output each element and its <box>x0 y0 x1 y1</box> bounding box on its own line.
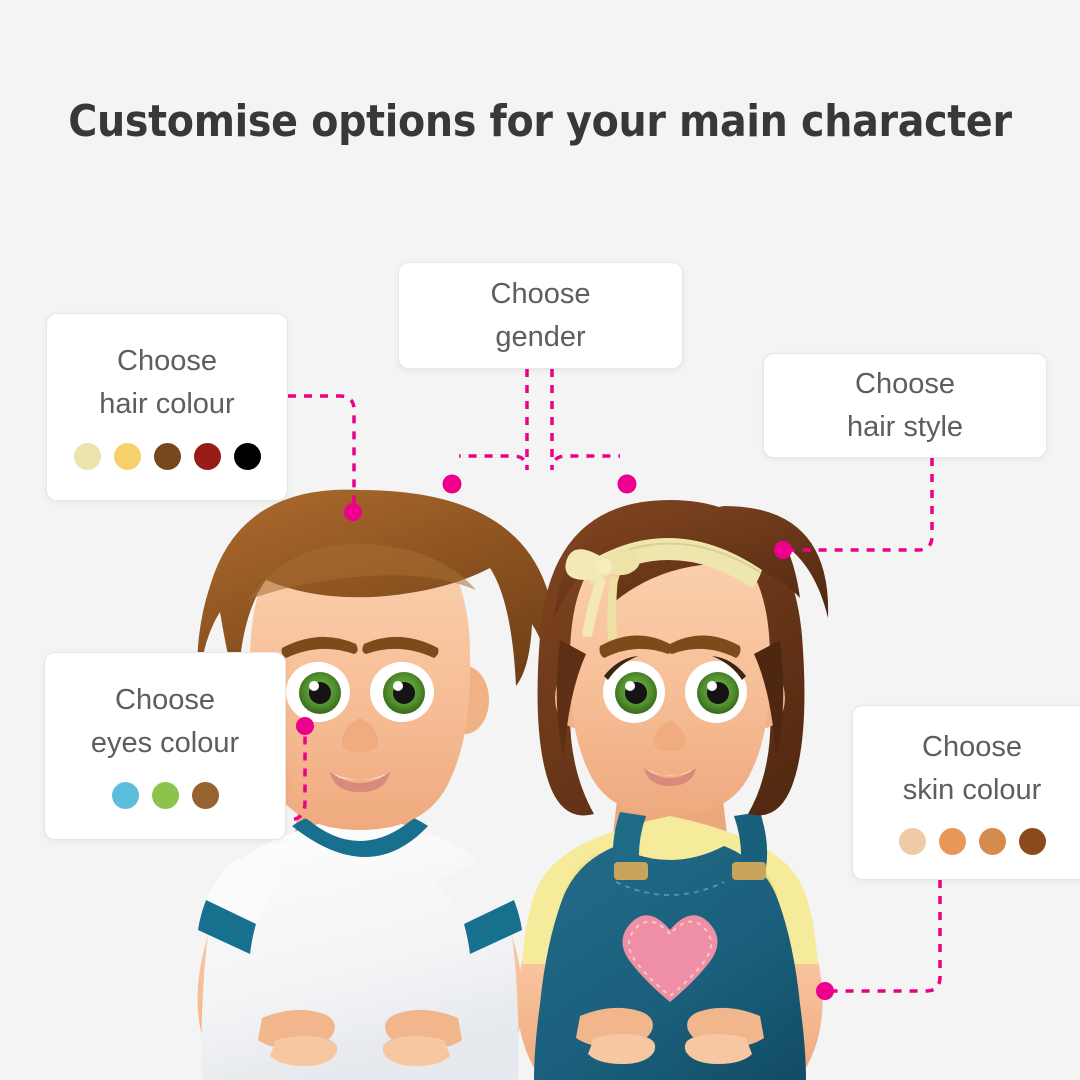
card-skin-colour-label: Choose skin colour <box>903 726 1042 812</box>
swatch-skin-medium-light[interactable] <box>939 828 966 855</box>
swatch-hair-black[interactable] <box>234 443 261 470</box>
swatch-eyes-blue[interactable] <box>112 782 139 809</box>
swatch-eyes-brown[interactable] <box>192 782 219 809</box>
girl-character <box>518 500 829 1080</box>
swatch-hair-blonde-golden[interactable] <box>114 443 141 470</box>
swatch-skin-dark[interactable] <box>1019 828 1046 855</box>
swatch-hair-blonde-pale[interactable] <box>74 443 101 470</box>
card-hair-colour[interactable]: Choose hair colour <box>46 313 288 501</box>
hair-colour-swatches[interactable] <box>74 443 261 470</box>
card-eyes-colour[interactable]: Choose eyes colour <box>44 652 286 840</box>
swatch-eyes-green[interactable] <box>152 782 179 809</box>
card-hair-style-label: Choose hair style <box>847 363 963 449</box>
card-gender[interactable]: Choose gender <box>398 262 683 369</box>
card-eyes-colour-label: Choose eyes colour <box>91 679 239 765</box>
character-illustration <box>0 0 1080 1080</box>
card-hair-style[interactable]: Choose hair style <box>763 353 1047 458</box>
girl-body <box>518 792 823 1080</box>
swatch-hair-brown[interactable] <box>154 443 181 470</box>
customiser-screen: Customise options for your main characte… <box>0 0 1080 1080</box>
skin-colour-swatches[interactable] <box>899 828 1046 855</box>
swatch-skin-light[interactable] <box>899 828 926 855</box>
swatch-hair-dark-red[interactable] <box>194 443 221 470</box>
card-hair-colour-label: Choose hair colour <box>99 340 234 426</box>
eyes-colour-swatches[interactable] <box>112 782 219 809</box>
swatch-skin-medium-tan[interactable] <box>979 828 1006 855</box>
card-gender-label: Choose gender <box>491 273 591 359</box>
card-skin-colour[interactable]: Choose skin colour <box>852 705 1080 880</box>
